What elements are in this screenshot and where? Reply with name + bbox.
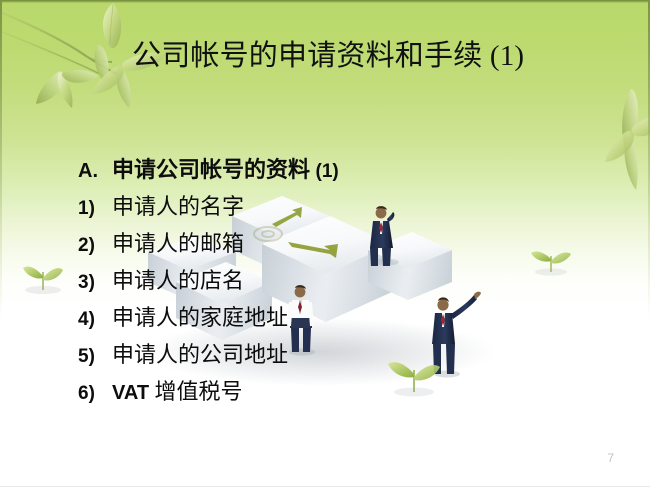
list-item-marker: 2) xyxy=(78,235,112,257)
list-item-marker: 3) xyxy=(78,272,112,294)
body-content-list: A. 申请公司帐号的资料 (1) 1) 申请人的名字 2) 申请人的邮箱 3) … xyxy=(78,152,508,411)
slide-border-top xyxy=(0,0,650,3)
list-item-marker: 5) xyxy=(78,346,112,368)
list-item-text: 申请人的名字 xyxy=(112,189,244,221)
list-item-marker: 4) xyxy=(78,309,112,331)
list-item-marker: 1) xyxy=(78,198,112,220)
list-item: 2) 申请人的邮箱 xyxy=(78,226,508,263)
list-item-marker: 6) xyxy=(78,383,112,405)
list-item-text: 申请人的家庭地址 xyxy=(112,300,288,332)
list-item-text: 申请人的公司地址 xyxy=(112,337,288,369)
list-item-text: VAT 增值税号 xyxy=(112,374,243,406)
list-item: 4) 申请人的家庭地址 xyxy=(78,300,508,337)
list-item: 6) VAT 增值税号 xyxy=(78,374,508,411)
slide-title: 公司帐号的申请资料和手续 (1) xyxy=(132,36,602,76)
list-item: 5) 申请人的公司地址 xyxy=(78,337,508,374)
slide-canvas: 公司帐号的申请资料和手续 (1) A. 申请公司帐号的资料 (1) 1) 申请人… xyxy=(0,0,650,487)
page-number: 7 xyxy=(607,451,614,465)
slide-border-left xyxy=(0,0,2,487)
list-item-text: 申请人的邮箱 xyxy=(112,226,244,258)
list-item-marker: A. xyxy=(78,160,112,183)
list-item: 1) 申请人的名字 xyxy=(78,189,508,226)
list-item-text: 申请公司帐号的资料 (1) xyxy=(112,152,339,184)
list-item-text: 申请人的店名 xyxy=(112,263,244,295)
list-item: 3) 申请人的店名 xyxy=(78,263,508,300)
list-item: A. 申请公司帐号的资料 (1) xyxy=(78,152,508,189)
